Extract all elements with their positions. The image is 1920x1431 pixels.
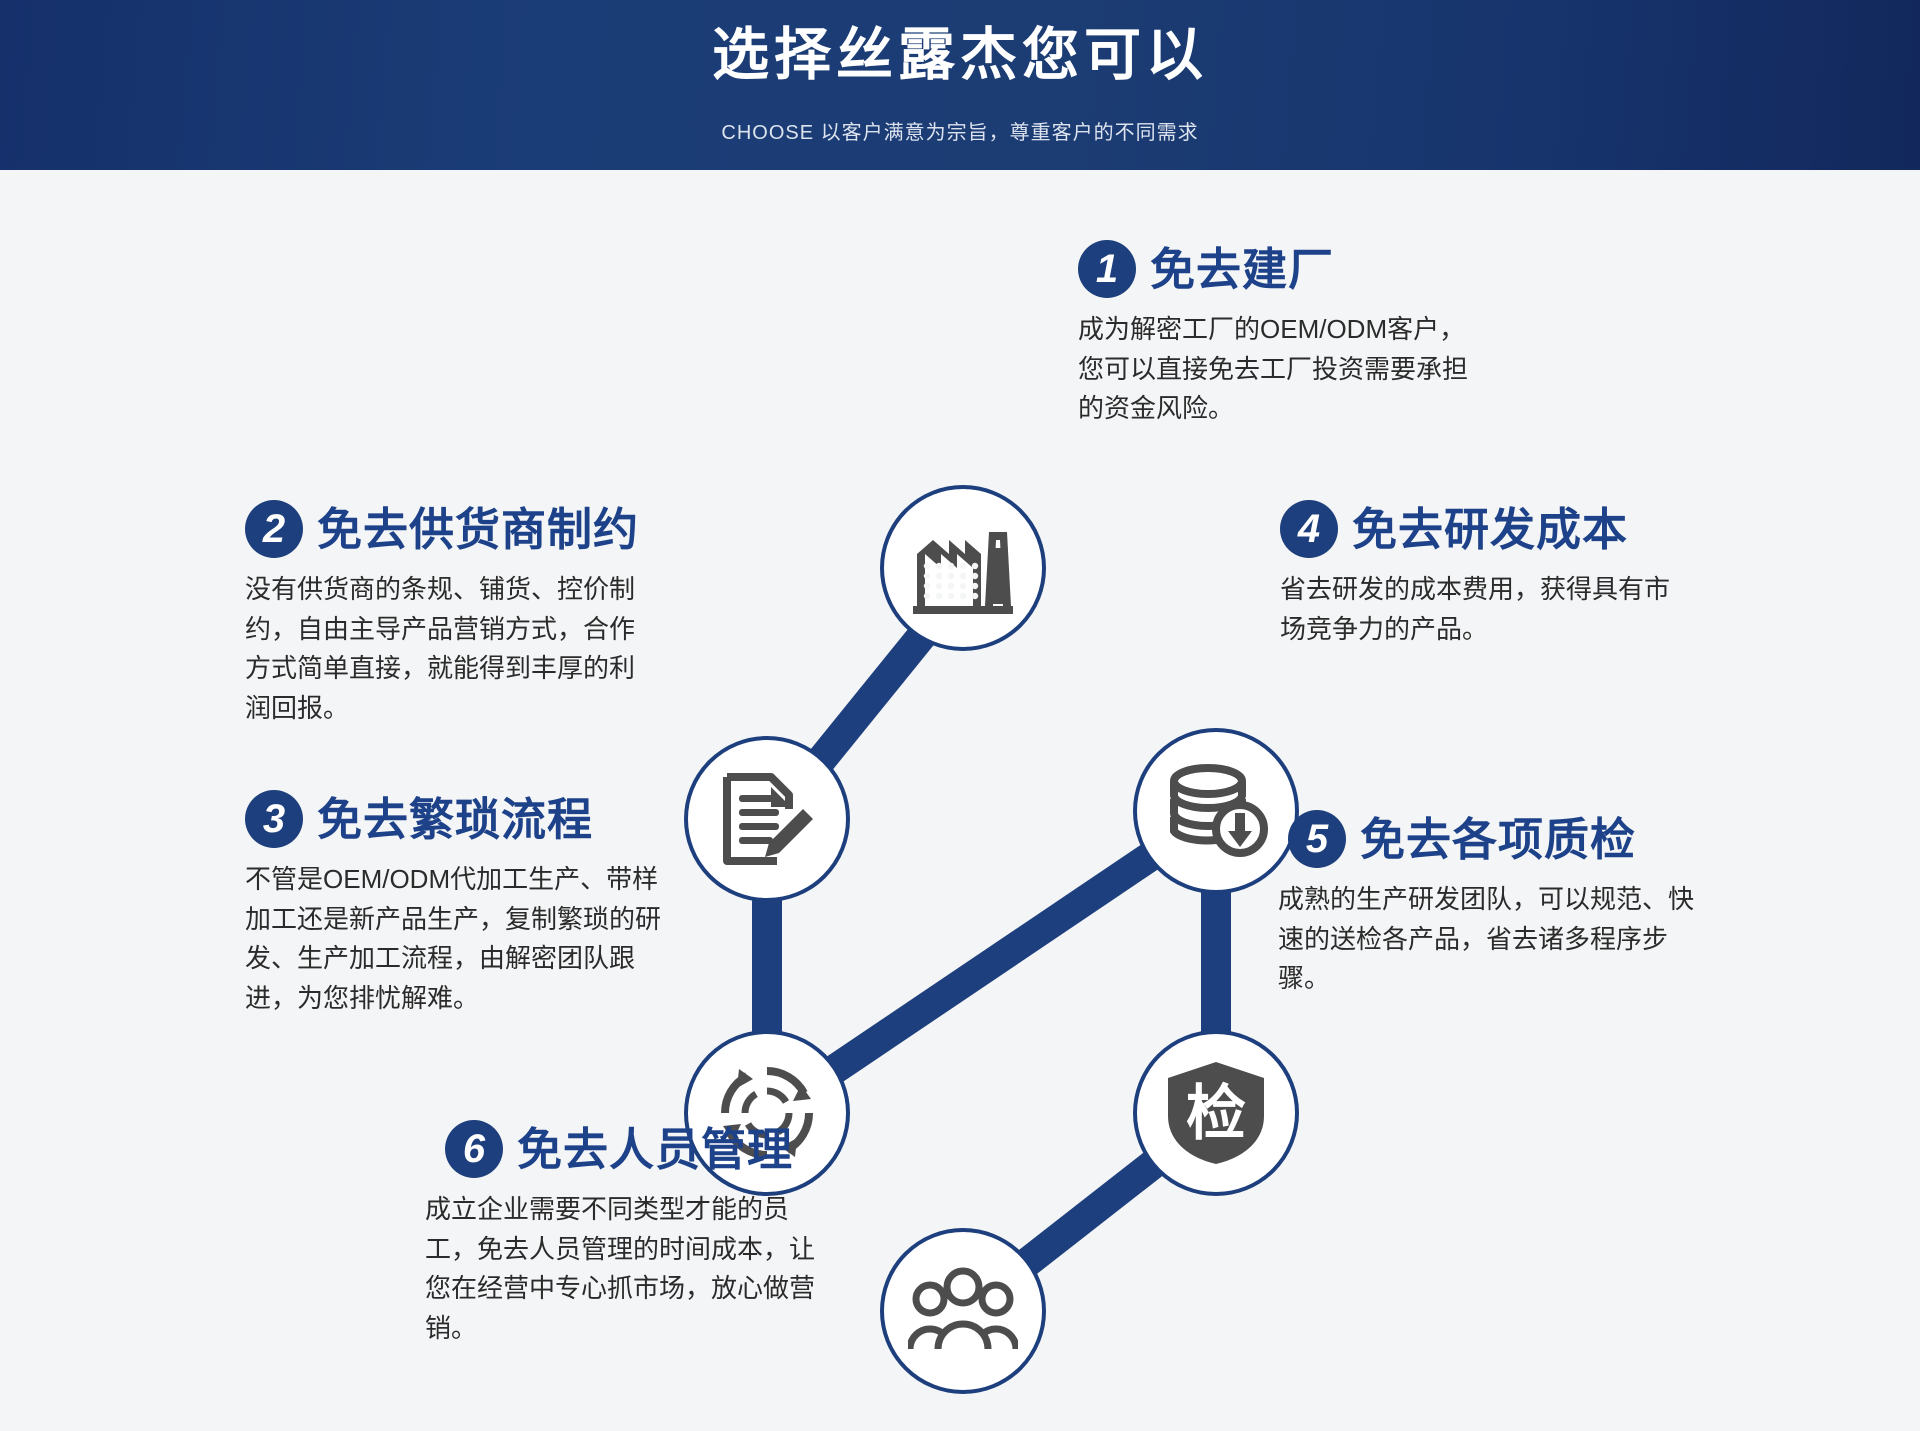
coins-down-arrow-icon (1164, 761, 1268, 861)
feature-3-heading: 3 免去繁琐流程 (245, 790, 665, 848)
shield-inspect-icon: 检 (1164, 1058, 1268, 1168)
feature-2-number: 2 (245, 500, 303, 558)
node-circle-document[interactable] (684, 736, 850, 902)
feature-block-1: 1 免去建厂 成为解密工厂的OEM/ODM客户，您可以直接免去工厂投资需要承担的… (1078, 240, 1498, 429)
feature-4-title: 免去研发成本 (1352, 507, 1628, 552)
page-header-banner: 选择丝露杰您可以 CHOOSE 以客户满意为宗旨，尊重客户的不同需求 (0, 0, 1920, 170)
infographic-page: 选择丝露杰您可以 CHOOSE 以客户满意为宗旨，尊重客户的不同需求 (0, 0, 1920, 1431)
feature-3-body: 不管是OEM/ODM代加工生产、带样加工还是新产品生产，复制繁琐的研发、生产加工… (245, 860, 665, 1018)
node-circle-factory[interactable] (880, 485, 1046, 651)
feature-5-title: 免去各项质检 (1360, 817, 1636, 862)
people-group-icon (908, 1265, 1018, 1357)
page-title: 选择丝露杰您可以 (0, 26, 1920, 86)
node-circle-coins[interactable] (1133, 728, 1299, 894)
factory-icon (909, 518, 1017, 618)
feature-3-title: 免去繁琐流程 (317, 797, 593, 842)
feature-block-5: 5 免去各项质检 成熟的生产研发团队，可以规范、快速的送检各产品，省去诸多程序步… (1288, 810, 1708, 999)
feature-2-body: 没有供货商的条规、铺货、控价制约，自由主导产品营销方式，合作方式简单直接，就能得… (245, 570, 660, 728)
feature-block-6: 6 免去人员管理 成立企业需要不同类型才能的员工，免去人员管理的时间成本，让您在… (445, 1120, 865, 1348)
feature-5-number: 5 (1288, 810, 1346, 868)
feature-6-heading: 6 免去人员管理 (445, 1120, 865, 1178)
feature-block-3: 3 免去繁琐流程 不管是OEM/ODM代加工生产、带样加工还是新产品生产，复制繁… (245, 790, 665, 1018)
feature-4-heading: 4 免去研发成本 (1280, 500, 1700, 558)
shield-glyph: 检 (1186, 1080, 1246, 1147)
feature-1-body: 成为解密工厂的OEM/ODM客户，您可以直接免去工厂投资需要承担的资金风险。 (1078, 310, 1488, 429)
feature-5-body: 成熟的生产研发团队，可以规范、快速的送检各产品，省去诸多程序步骤。 (1278, 880, 1696, 999)
feature-1-number: 1 (1078, 240, 1136, 298)
feature-4-body: 省去研发的成本费用，获得具有市场竞争力的产品。 (1280, 570, 1695, 649)
feature-6-number: 6 (445, 1120, 503, 1178)
feature-block-2: 2 免去供货商制约 没有供货商的条规、铺货、控价制约，自由主导产品营销方式，合作… (245, 500, 665, 728)
feature-1-title: 免去建厂 (1150, 247, 1334, 292)
page-subtitle: CHOOSE 以客户满意为宗旨，尊重客户的不同需求 (0, 116, 1920, 145)
node-circle-shield[interactable]: 检 (1133, 1030, 1299, 1196)
feature-6-body: 成立企业需要不同类型才能的员工，免去人员管理的时间成本，让您在经营中专心抓市场，… (425, 1190, 840, 1348)
document-pen-icon (715, 767, 819, 871)
feature-3-number: 3 (245, 790, 303, 848)
feature-4-number: 4 (1280, 500, 1338, 558)
feature-block-4: 4 免去研发成本 省去研发的成本费用，获得具有市场竞争力的产品。 (1280, 500, 1700, 649)
feature-2-title: 免去供货商制约 (317, 507, 639, 552)
feature-5-heading: 5 免去各项质检 (1288, 810, 1708, 868)
feature-2-heading: 2 免去供货商制约 (245, 500, 665, 558)
node-circle-people[interactable] (880, 1228, 1046, 1394)
feature-6-title: 免去人员管理 (517, 1127, 793, 1172)
feature-1-heading: 1 免去建厂 (1078, 240, 1498, 298)
